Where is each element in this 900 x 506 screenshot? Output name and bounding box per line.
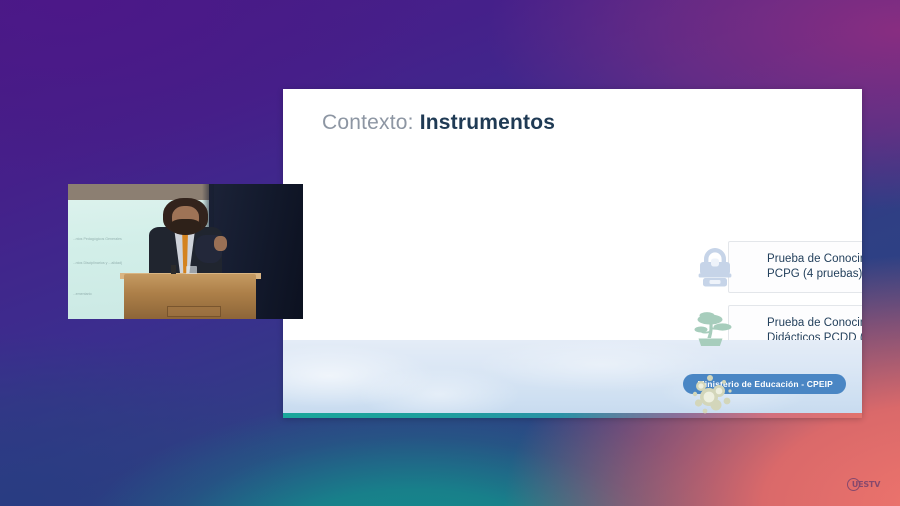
list-item: Prueba de Conocimientos Pedagógicos Gene… — [687, 241, 862, 293]
podium — [124, 274, 256, 319]
slide-title-prefix: Contexto: — [322, 111, 420, 134]
instrument-card[interactable]: Prueba de Conocimientos Pedagógicos Gene… — [728, 241, 862, 293]
instrument-line: Prueba de Conocimientos Disciplinarios y — [767, 316, 862, 332]
uestv-watermark-logo: UESTV — [846, 476, 886, 492]
slide-footer: Ministerio de Educación - CPEIP — [283, 340, 862, 418]
podium-panel — [167, 306, 222, 317]
presenter-video-panel[interactable]: ...ntos Pedagógicos Generales ...ntos Di… — [68, 184, 303, 319]
instrument-line: Prueba de Conocimientos Pedagógicos Gene… — [767, 252, 862, 268]
presenter-beard — [170, 219, 200, 235]
footer-color-strip — [283, 413, 862, 418]
presentation-slide: Contexto: Instrumentos — [283, 89, 862, 418]
slide-title-emphasis: Instrumentos — [420, 111, 555, 134]
watermark-circle — [847, 478, 860, 491]
slide-title: Contexto: Instrumentos — [322, 111, 555, 135]
instrument-line: PCPG (4 pruebas) — [767, 267, 862, 283]
footer-badge: Ministerio de Educación - CPEIP — [683, 374, 846, 394]
screen: Contexto: Instrumentos — [0, 0, 900, 506]
presenter-hand — [214, 236, 227, 251]
